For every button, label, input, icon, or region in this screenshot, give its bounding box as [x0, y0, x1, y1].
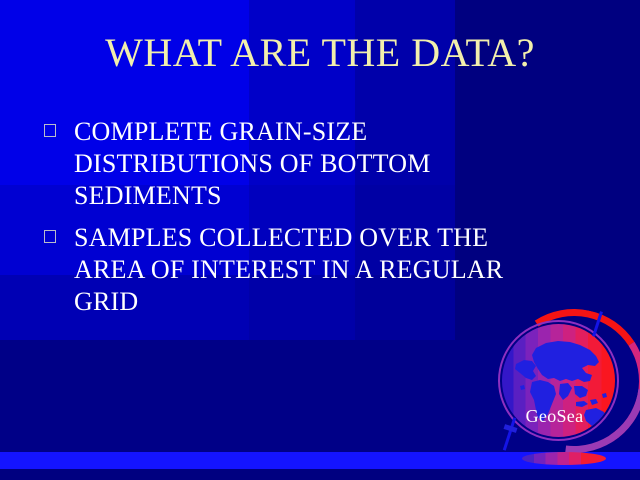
list-item: COMPLETE GRAIN-SIZE DISTRIBUTIONS OF BOT…: [44, 116, 549, 212]
globe-shadow-ellipse: [522, 452, 606, 465]
presentation-slide: WHAT ARE THE DATA? COMPLETE GRAIN-SIZE D…: [0, 0, 640, 480]
hollow-square-bullet-icon: [44, 124, 56, 137]
logo-wordmark: GeoSea: [494, 407, 615, 425]
slide-title: WHAT ARE THE DATA?: [0, 29, 640, 77]
geosea-logo: GeoSea: [494, 309, 640, 467]
slide-body: COMPLETE GRAIN-SIZE DISTRIBUTIONS OF BOT…: [44, 116, 549, 328]
hollow-square-bullet-icon: [44, 230, 56, 243]
list-item: SAMPLES COLLECTED OVER THE AREA OF INTER…: [44, 222, 549, 318]
list-item-label: COMPLETE GRAIN-SIZE DISTRIBUTIONS OF BOT…: [74, 116, 549, 212]
list-item-label: SAMPLES COLLECTED OVER THE AREA OF INTER…: [74, 222, 549, 318]
bg-block: [0, 469, 640, 480]
